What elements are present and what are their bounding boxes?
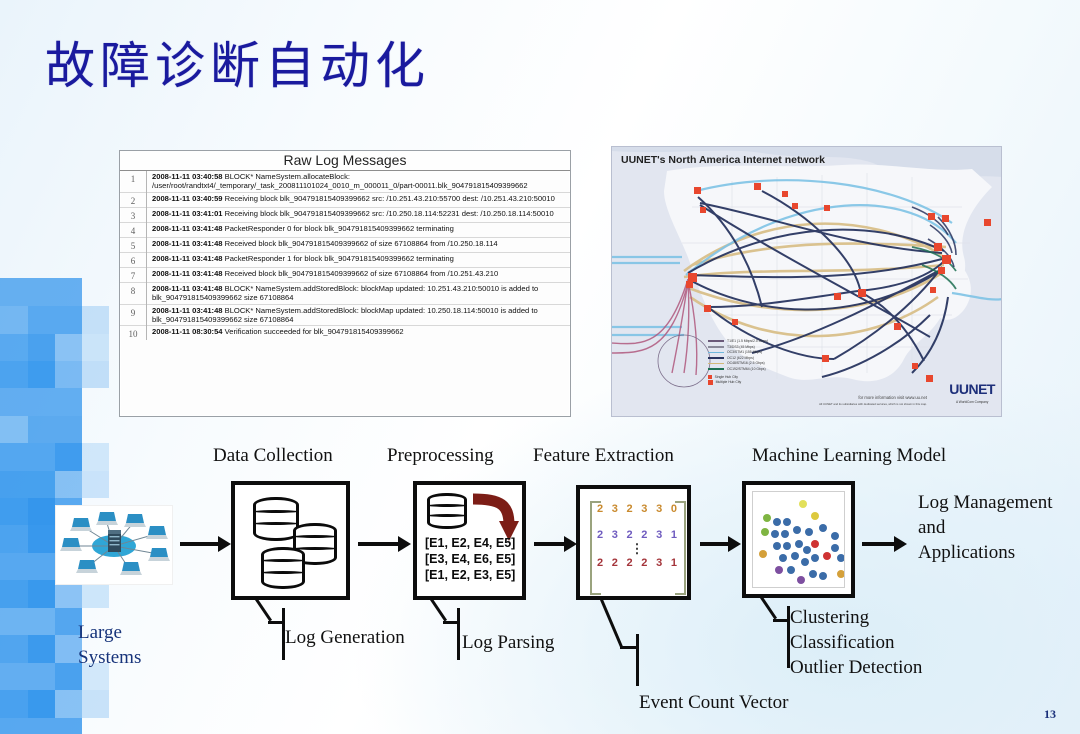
matrix-cell: 3: [656, 529, 662, 541]
map-legend-label: T3/DS3 (45 Mbps): [727, 345, 755, 349]
ml-task-outlier-detection: Outlier Detection: [790, 657, 922, 678]
cluster-scatter-plot: [752, 491, 845, 588]
machine-learning-box: [742, 481, 855, 598]
map-hub-marker: [782, 191, 788, 197]
log-row: 82008-11-11 03:41:48 BLOCK* NameSystem.a…: [120, 282, 570, 304]
map-legend-swatch: [708, 357, 724, 359]
log-row: 62008-11-11 03:41:48 PacketResponder 1 f…: [120, 252, 570, 267]
map-hub-marker: [938, 267, 945, 274]
log-timestamp: 2008-11-11 03:41:48: [152, 239, 225, 248]
large-systems-label: Large Systems: [78, 620, 141, 670]
output-line2: and: [918, 517, 945, 538]
sub-label-event-count-vector: Event Count Vector: [639, 690, 789, 715]
matrix-cell: 2: [597, 557, 603, 569]
uunet-map-graphic: [612, 147, 1002, 417]
map-marker-label: Single Hub City: [715, 375, 738, 379]
map-marker-legend-item: Multiple Hub City: [708, 380, 768, 386]
arrow-preprocessing-to-feature: [534, 542, 574, 546]
map-title: UUNET's North America Internet network: [621, 154, 825, 166]
matrix-cell: 2: [641, 557, 647, 569]
log-timestamp: 2008-11-11 03:41:48: [152, 254, 225, 263]
log-timestamp: 2008-11-11 03:41:48: [152, 306, 225, 315]
page-title: 故障诊断自动化: [45, 26, 430, 98]
matrix-cell: 2: [597, 529, 603, 541]
output-line1: Log Management: [918, 492, 1053, 513]
log-row: 32008-11-11 03:41:01 Receiving block blk…: [120, 207, 570, 222]
map-hub-marker: [704, 305, 711, 312]
event-count-matrix: 232330232231⋮222231: [597, 503, 677, 569]
matrix-cell: 0: [671, 503, 677, 515]
map-hub-marker: [942, 255, 951, 264]
event-sequence-line: [E3, E4, E6, E5]: [425, 551, 515, 567]
log-timestamp: 2008-11-11 03:41:48: [152, 284, 225, 293]
log-row-number: 1: [120, 171, 147, 192]
ml-task-classification: Classification: [790, 632, 894, 653]
map-hub-marker: [984, 219, 991, 226]
matrix-cell: 3: [656, 557, 662, 569]
map-legend-label: OC3/STM1 (155 Mbps): [727, 350, 762, 354]
raw-log-panel: Raw Log Messages 12008-11-11 03:40:58 BL…: [119, 150, 571, 417]
map-legend-item: OC192/STM64 (10 Gbps): [708, 367, 768, 373]
log-row-message: 2008-11-11 03:40:59 Receiving block blk_…: [147, 192, 571, 207]
map-hub-marker: [894, 323, 901, 330]
network-topology-icon: [56, 506, 172, 584]
map-legend-swatch: [708, 363, 724, 365]
map-hub-marker: [754, 183, 761, 190]
arrow-feature-to-ml: [700, 542, 738, 546]
map-hub-marker: [694, 187, 701, 194]
log-row-message: 2008-11-11 03:41:48 Received block blk_9…: [147, 237, 571, 252]
matrix-row: 232330: [597, 503, 677, 515]
uunet-logo-subtext: A WorldCom Company: [949, 396, 995, 409]
uunet-logo-text: UUNET: [949, 381, 995, 397]
matrix-cell: 2: [627, 557, 633, 569]
map-hub-marker: [942, 215, 949, 222]
log-row-number: 5: [120, 237, 147, 252]
map-legend-label: OC48/STM16 (2.5 Gbps): [727, 361, 765, 365]
raw-log-header: Raw Log Messages: [120, 151, 570, 171]
map-hub-marker: [822, 355, 829, 362]
map-note: for more information visit www.uu.net Al…: [819, 395, 927, 407]
log-timestamp: 2008-11-11 03:41:48: [152, 224, 225, 233]
event-sequence-line: [E1, E2, E4, E5]: [425, 535, 515, 551]
log-row-message: 2008-11-11 03:41:48 BLOCK* NameSystem.ad…: [147, 304, 571, 326]
ml-task-list: Clustering Classification Outlier Detect…: [790, 605, 922, 680]
map-hub-marker: [928, 213, 935, 220]
map-note-small: All UUNET and its subsidiaries with dedi…: [819, 401, 927, 407]
event-sequence-list: [E1, E2, E4, E5][E3, E4, E6, E5][E1, E2,…: [425, 535, 515, 583]
matrix-row: 222231: [597, 557, 677, 569]
map-legend-swatch: [708, 346, 724, 348]
page-number: 13: [1044, 707, 1056, 722]
matrix-cell: 2: [627, 503, 633, 515]
output-line3: Applications: [918, 542, 1015, 563]
arrow-collection-to-preprocessing: [358, 542, 408, 546]
log-timestamp: 2008-11-11 03:41:01: [152, 209, 225, 218]
sub-label-log-generation: Log Generation: [285, 625, 405, 650]
log-timestamp: 2008-11-11 03:41:48: [152, 269, 225, 278]
map-marker-label: Multiple Hub City: [716, 380, 742, 384]
ml-task-clustering: Clustering: [790, 607, 869, 628]
log-row-message: 2008-11-11 03:41:48 PacketResponder 1 fo…: [147, 252, 571, 267]
map-hub-marker: [912, 363, 918, 369]
matrix-cell: 3: [641, 503, 647, 515]
sub-label-log-parsing: Log Parsing: [462, 630, 554, 655]
map-legend-swatch: [708, 368, 724, 370]
map-legend-label: T1/E1 (1.5 Mbps/2.0 Mbps): [727, 339, 768, 343]
data-collection-box: [231, 481, 350, 600]
uunet-logo: UUNET A WorldCom Company: [949, 383, 995, 409]
map-hub-marker: [686, 281, 693, 288]
log-row: 12008-11-11 03:40:58 BLOCK* NameSystem.a…: [120, 171, 570, 192]
map-marker-swatch: [708, 380, 713, 385]
arrow-systems-to-collection: [180, 542, 228, 546]
stage-label-machine-learning: Machine Learning Model: [752, 445, 946, 467]
matrix-cell: 2: [597, 503, 603, 515]
log-row: 52008-11-11 03:41:48 Received block blk_…: [120, 237, 570, 252]
large-systems-line2: Systems: [78, 647, 141, 668]
log-timestamp: 2008-11-11 03:40:59: [152, 194, 225, 203]
log-row: 102008-11-11 08:30:54 Verification succe…: [120, 326, 570, 341]
matrix-cell: 2: [641, 529, 647, 541]
output-label: Log Management and Applications: [918, 490, 1053, 565]
stage-label-data-collection: Data Collection: [213, 445, 333, 467]
log-row-number: 9: [120, 304, 147, 326]
log-row: 92008-11-11 03:41:48 BLOCK* NameSystem.a…: [120, 304, 570, 326]
log-row-number: 6: [120, 252, 147, 267]
feature-extraction-box: 232330232231⋮222231: [576, 485, 691, 600]
map-hub-marker: [824, 205, 830, 211]
map-hub-marker: [834, 293, 841, 300]
uunet-map-panel: UUNET's North America Internet network T…: [611, 146, 1002, 417]
raw-log-table: 12008-11-11 03:40:58 BLOCK* NameSystem.a…: [120, 171, 570, 340]
map-hub-marker: [732, 319, 738, 325]
event-sequence-line: [E1, E2, E3, E5]: [425, 567, 515, 583]
map-legend-label: OC12 (622 Mbps): [727, 356, 754, 360]
arrow-ml-to-output: [862, 542, 904, 546]
log-row-number: 2: [120, 192, 147, 207]
log-row-number: 10: [120, 326, 147, 341]
map-hub-marker: [858, 289, 866, 297]
map-hub-marker: [934, 243, 942, 251]
matrix-cell: 3: [612, 503, 618, 515]
map-hub-marker: [926, 375, 933, 382]
matrix-cell: 3: [656, 503, 662, 515]
map-hub-marker: [930, 287, 936, 293]
matrix-cell: 2: [612, 557, 618, 569]
matrix-cell: 1: [671, 557, 677, 569]
log-row-number: 3: [120, 207, 147, 222]
log-row-message: 2008-11-11 03:41:48 BLOCK* NameSystem.ad…: [147, 282, 571, 304]
large-systems-line1: Large: [78, 622, 122, 643]
log-timestamp: 2008-11-11 08:30:54: [152, 327, 225, 336]
log-timestamp: 2008-11-11 03:40:58: [152, 172, 225, 181]
matrix-cell: 1: [671, 529, 677, 541]
map-legend-label: OC192/STM64 (10 Gbps): [727, 367, 766, 371]
map-legend-swatch: [708, 340, 724, 342]
matrix-ellipsis: ⋮: [597, 541, 677, 557]
log-row-message: 2008-11-11 03:41:01 Receiving block blk_…: [147, 207, 571, 222]
log-row: 22008-11-11 03:40:59 Receiving block blk…: [120, 192, 570, 207]
log-row: 72008-11-11 03:41:48 Received block blk_…: [120, 267, 570, 282]
log-row-number: 4: [120, 222, 147, 237]
preprocessing-box: [E1, E2, E4, E5][E3, E4, E6, E5][E1, E2,…: [413, 481, 526, 600]
map-hub-marker: [792, 203, 798, 209]
database-icon: [427, 493, 467, 529]
stage-label-feature-extraction: Feature Extraction: [533, 445, 674, 467]
log-row: 42008-11-11 03:41:48 PacketResponder 0 f…: [120, 222, 570, 237]
log-row-message: 2008-11-11 08:30:54 Verification succeed…: [147, 326, 571, 341]
log-row-message: 2008-11-11 03:41:48 PacketResponder 0 fo…: [147, 222, 571, 237]
matrix-cell: 2: [627, 529, 633, 541]
log-row-message: 2008-11-11 03:40:58 BLOCK* NameSystem.al…: [147, 171, 571, 192]
matrix-cell: 3: [612, 529, 618, 541]
database-icon: [261, 547, 305, 589]
map-legend-swatch: [708, 352, 724, 354]
map-legend: T1/E1 (1.5 Mbps/2.0 Mbps)T3/DS3 (45 Mbps…: [708, 339, 768, 386]
matrix-row: 232231: [597, 529, 677, 541]
map-marker-swatch: [708, 375, 712, 379]
large-systems-image: [55, 505, 173, 585]
log-row-message: 2008-11-11 03:41:48 Received block blk_9…: [147, 267, 571, 282]
map-hub-marker: [700, 207, 706, 213]
log-row-number: 8: [120, 282, 147, 304]
stage-label-preprocessing: Preprocessing: [387, 445, 494, 467]
log-row-number: 7: [120, 267, 147, 282]
